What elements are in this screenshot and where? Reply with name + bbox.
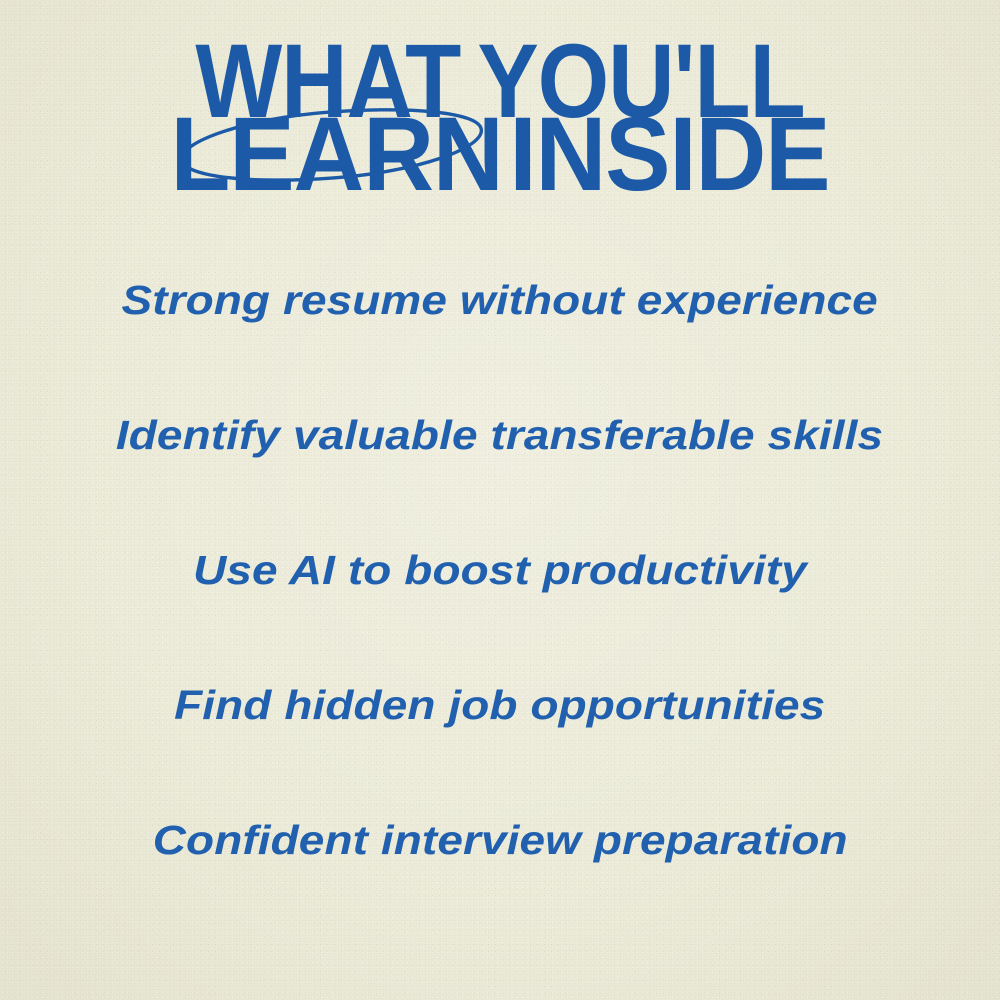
benefit-text: Confident interview preparation [153, 795, 848, 885]
headline-word-learn: LEARN [171, 113, 503, 197]
headline-line-2: LEARNINSIDE [0, 113, 1000, 197]
benefit-item: Confident interview preparation [0, 795, 1000, 930]
benefit-text: Strong resume without experience [122, 255, 878, 345]
benefit-item: Use AI to boost productivity [0, 525, 1000, 660]
benefits-list: Strong resume without experience Identif… [0, 255, 1000, 930]
benefit-text: Use AI to boost productivity [193, 525, 807, 615]
headline-word-inside: INSIDE [509, 113, 829, 197]
benefit-text: Find hidden job opportunities [174, 660, 825, 750]
benefit-item: Identify valuable transferable skills [0, 390, 1000, 525]
promo-graphic: WHATYOU'LL LEARNINSIDE Strong resume wit… [0, 0, 1000, 1000]
benefit-text: Identify valuable transferable skills [116, 390, 883, 480]
headline-block: WHATYOU'LL LEARNINSIDE [0, 40, 1000, 182]
benefit-item: Find hidden job opportunities [0, 660, 1000, 795]
benefit-item: Strong resume without experience [0, 255, 1000, 390]
